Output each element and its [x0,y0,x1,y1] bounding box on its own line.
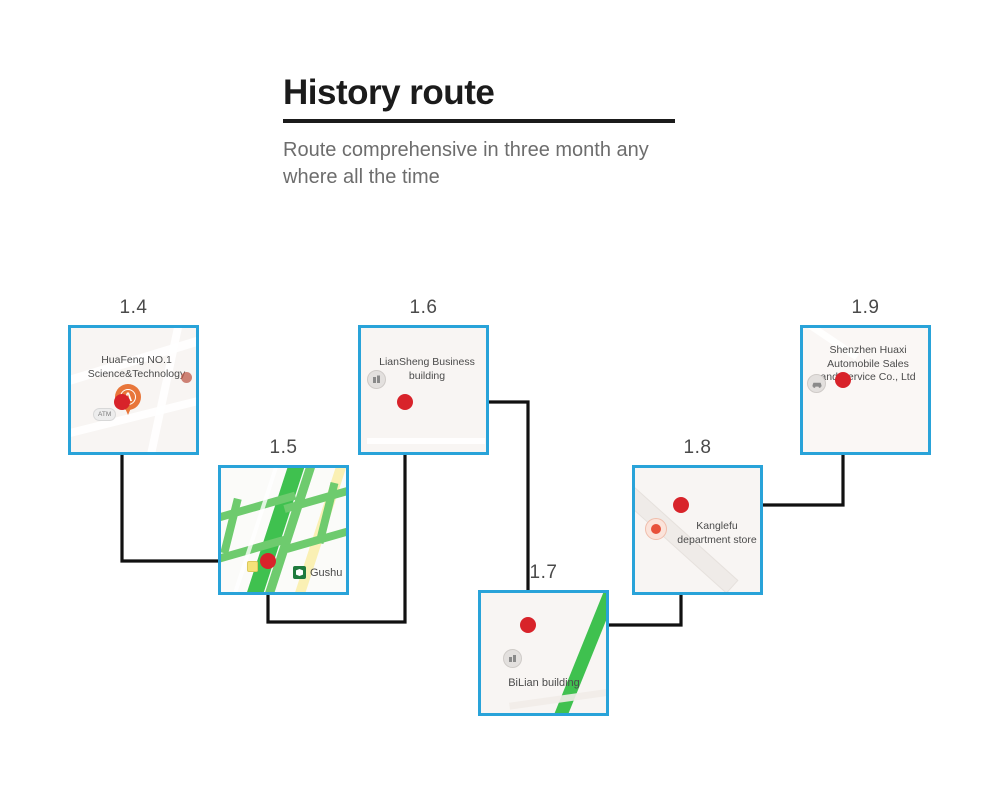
route-dot-1-9[interactable] [835,372,851,388]
route-dot-1-4[interactable] [114,394,130,410]
route-dot-1-6[interactable] [397,394,413,410]
atm-pill-label: ATM [93,408,116,421]
map-card-1-8[interactable]: Kanglefu department store [632,465,763,595]
map-road [367,438,485,444]
node-label-1-7: 1.7 [478,562,609,584]
route-node-1-9[interactable]: 1.9 Shenzhen Huaxi Automobile Sales and … [800,325,931,455]
route-node-1-6[interactable]: 1.6 LianSheng Business building [358,325,489,455]
node-label-1-6: 1.6 [358,297,489,319]
route-node-1-4[interactable]: 1.4 HuaFeng NO.1 Science&Technology A AT… [68,325,199,455]
route-node-1-7[interactable]: 1.7 BiLian building [478,590,609,716]
shopping-marker-icon [645,518,667,540]
map-card-1-9[interactable]: Shenzhen Huaxi Automobile Sales and Serv… [800,325,931,455]
building-icon [503,649,522,668]
map-card-1-7[interactable]: BiLian building [478,590,609,716]
node-label-1-4: 1.4 [68,297,199,319]
metro-station-icon: Gushu [293,566,342,579]
node-label-1-8: 1.8 [632,437,763,459]
poi-label-1-7: BiLian building [483,676,605,690]
car-icon [807,374,826,393]
map-poi-dot [181,372,192,383]
metro-label-gushu: Gushu [310,567,342,579]
route-dot-1-8[interactable] [673,497,689,513]
route-node-1-8[interactable]: 1.8 Kanglefu department store [632,465,763,595]
poi-label-1-8: Kanglefu department store [671,520,763,547]
map-background [361,328,486,452]
map-badge-icon [247,561,258,572]
map-card-1-5[interactable]: Gushu [218,465,349,595]
node-label-1-9: 1.9 [800,297,931,319]
building-icon [367,370,386,389]
map-card-1-4[interactable]: HuaFeng NO.1 Science&Technology A ATM [68,325,199,455]
route-diagram: 1.4 HuaFeng NO.1 Science&Technology A AT… [0,0,1000,786]
map-card-1-6[interactable]: LianSheng Business building [358,325,489,455]
route-node-1-5[interactable]: 1.5 Gushu [218,465,349,595]
route-dot-1-5[interactable] [260,553,276,569]
node-label-1-5: 1.5 [218,437,349,459]
route-dot-1-7[interactable] [520,617,536,633]
